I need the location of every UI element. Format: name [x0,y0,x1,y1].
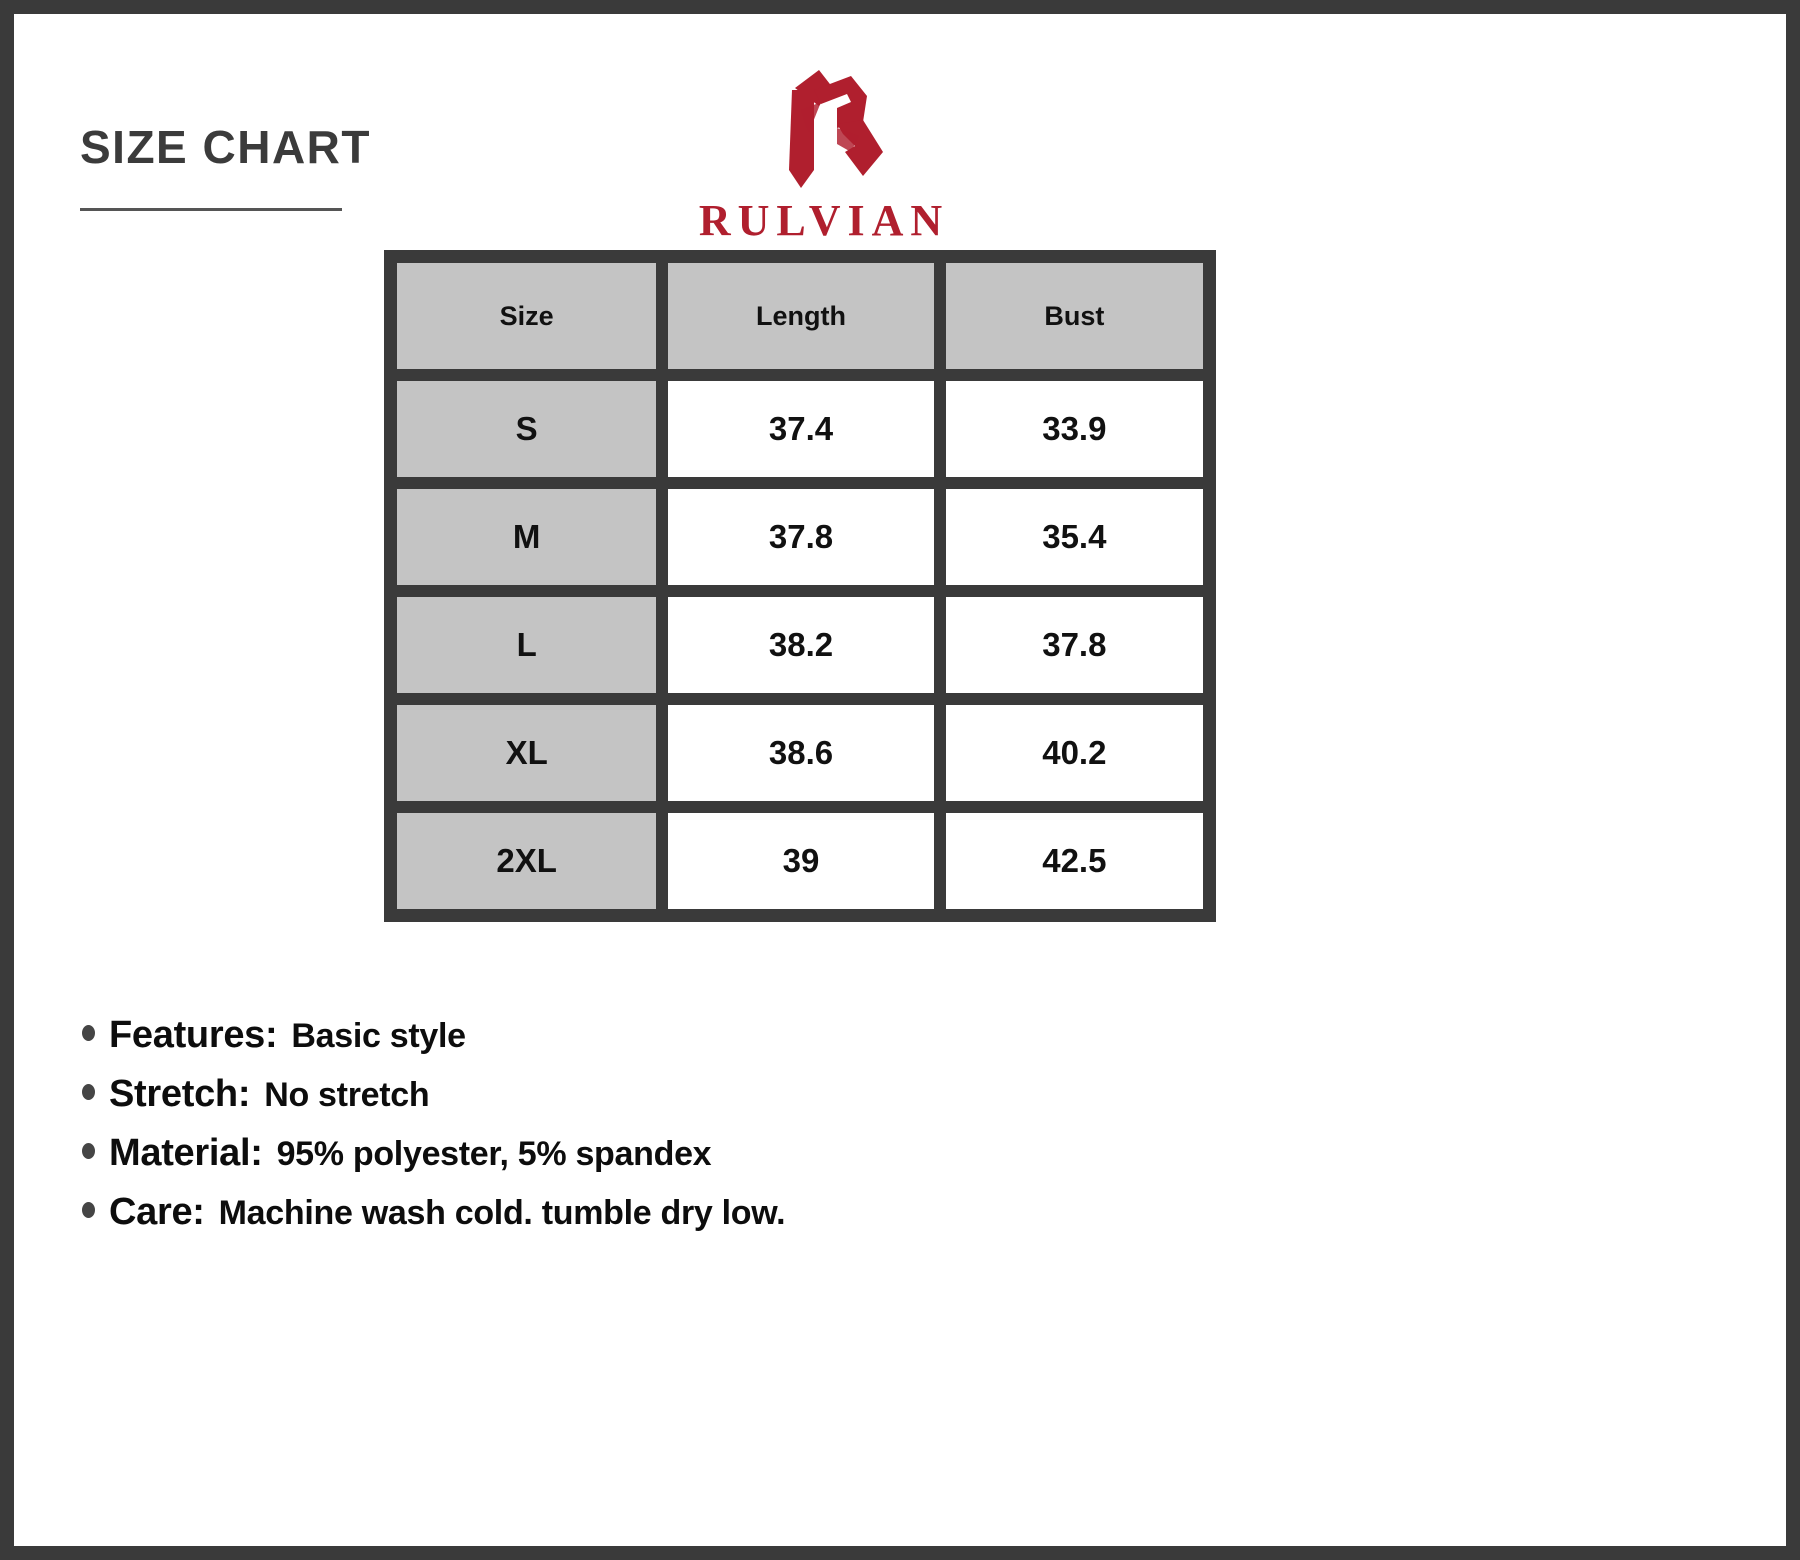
spec-label: Material: [109,1132,263,1175]
cell-bust: 37.8 [940,591,1209,699]
cell-size: S [391,375,662,483]
cell-length: 38.6 [662,699,939,807]
table-header-row: Size Length Bust [391,257,1209,375]
list-item: Stretch: No stretch [82,1073,1182,1116]
table-row: 2XL 39 42.5 [391,807,1209,915]
bullet-icon [82,1143,95,1159]
cell-bust: 42.5 [940,807,1209,915]
bullet-icon [82,1202,95,1218]
table-row: M 37.8 35.4 [391,483,1209,591]
spec-value: Basic style [291,1017,465,1056]
column-header-bust: Bust [940,257,1209,375]
table-row: S 37.4 33.9 [391,375,1209,483]
list-item: Care: Machine wash cold. tumble dry low. [82,1191,1182,1234]
cell-size: M [391,483,662,591]
cell-length: 37.4 [662,375,939,483]
column-header-length: Length [662,257,939,375]
brand-name: RULVIAN [674,199,974,243]
product-specs-list: Features: Basic style Stretch: No stretc… [82,1014,1182,1250]
bullet-icon [82,1084,95,1100]
spec-label: Care: [109,1191,205,1234]
spec-value: No stretch [264,1076,429,1115]
list-item: Features: Basic style [82,1014,1182,1057]
list-item: Material: 95% polyester, 5% spandex [82,1132,1182,1175]
cell-length: 37.8 [662,483,939,591]
size-chart-card: SIZE CHART RULVIAN Size Length Bust [0,0,1800,1560]
cell-length: 38.2 [662,591,939,699]
spec-value: 95% polyester, 5% spandex [277,1135,712,1174]
bullet-icon [82,1025,95,1041]
cell-size: L [391,591,662,699]
column-header-size: Size [391,257,662,375]
title-divider [80,208,342,211]
table-row: XL 38.6 40.2 [391,699,1209,807]
rulvian-monogram-icon [759,66,889,191]
size-chart-table: Size Length Bust S 37.4 33.9 M 37.8 35.4… [384,250,1216,922]
spec-value: Machine wash cold. tumble dry low. [219,1194,786,1233]
cell-bust: 33.9 [940,375,1209,483]
cell-size: XL [391,699,662,807]
title-block: SIZE CHART [80,124,400,211]
cell-length: 39 [662,807,939,915]
cell-size: 2XL [391,807,662,915]
cell-bust: 40.2 [940,699,1209,807]
spec-label: Features: [109,1014,277,1057]
brand-block: RULVIAN [674,66,974,243]
page-title: SIZE CHART [80,124,400,170]
spec-label: Stretch: [109,1073,250,1116]
table-row: L 38.2 37.8 [391,591,1209,699]
cell-bust: 35.4 [940,483,1209,591]
